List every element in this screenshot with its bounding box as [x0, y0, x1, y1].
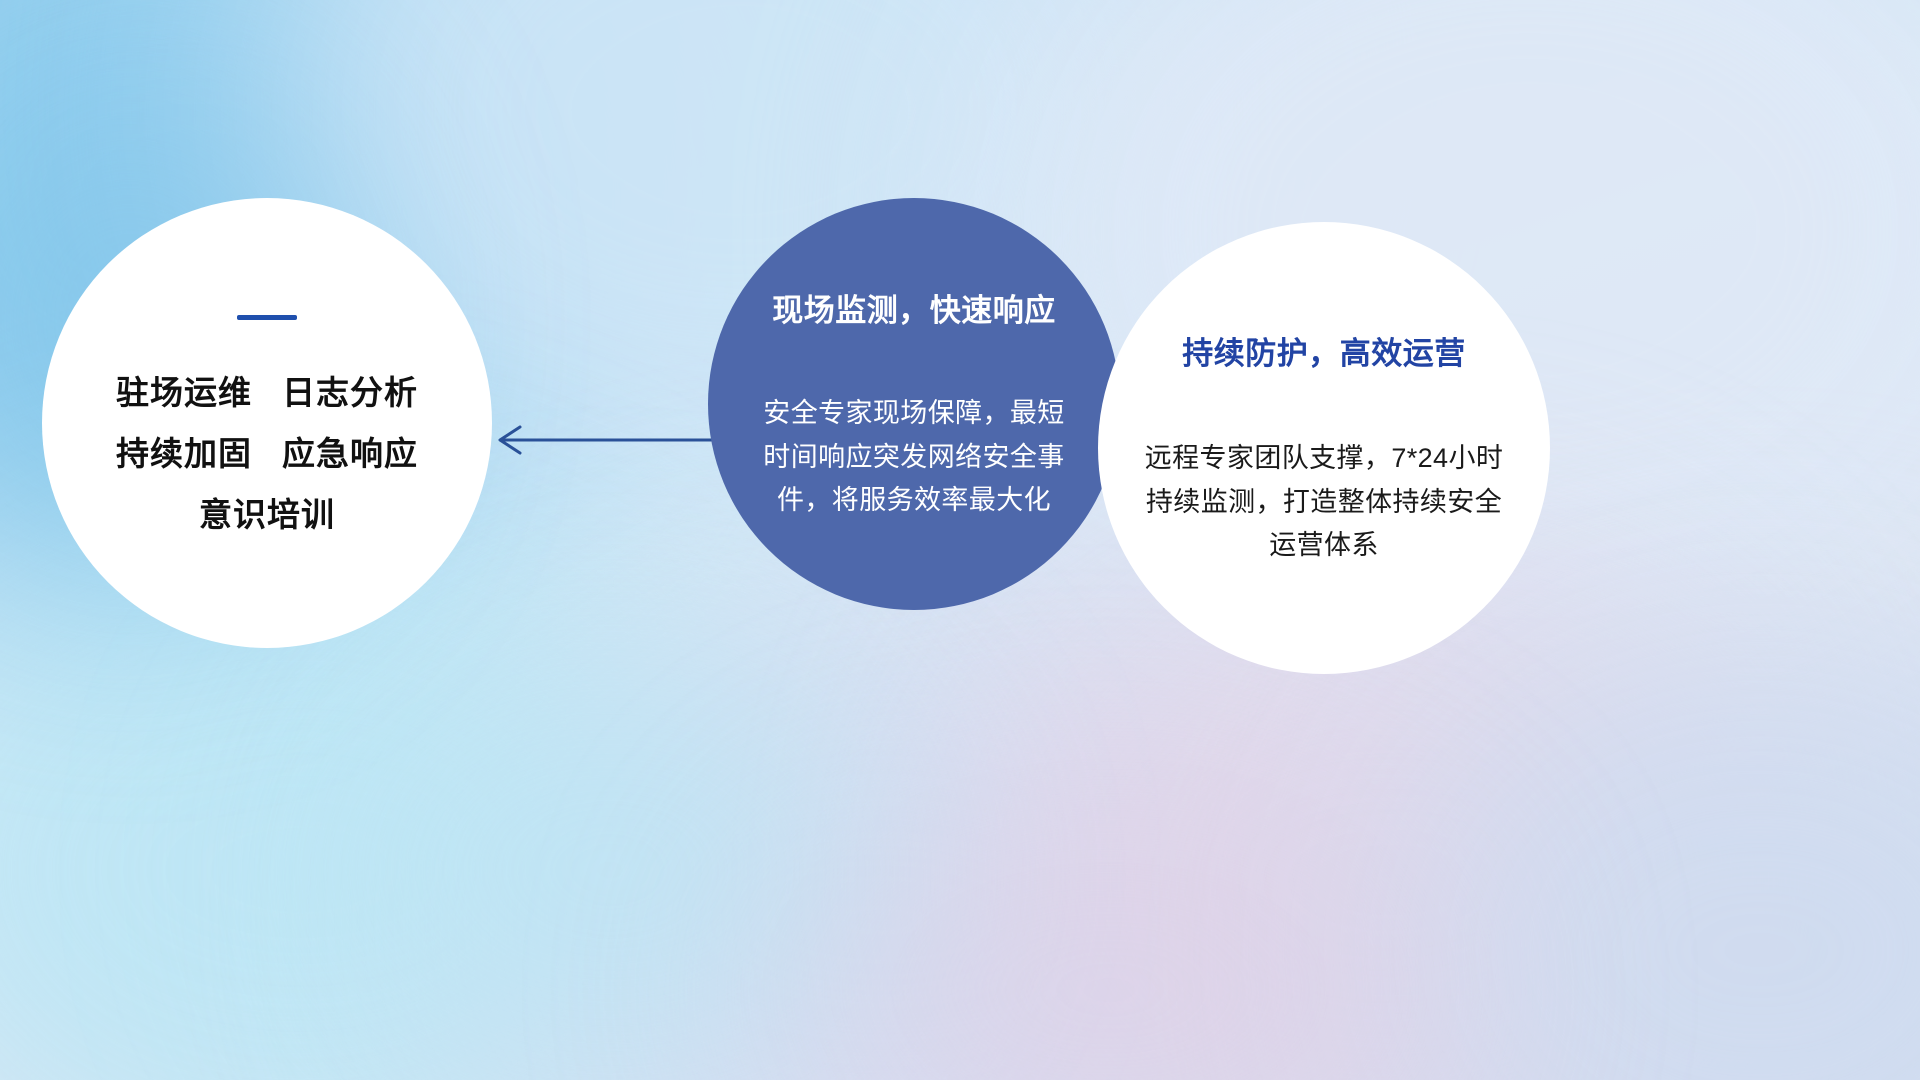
- capability-row: 持续加固应急响应: [116, 437, 418, 470]
- continuous-protection-circle: 持续防护，高效运营 远程专家团队支撑，7*24小时持续监测，打造整体持续安全运营…: [1098, 222, 1550, 674]
- capability-label: 驻场运维: [116, 374, 252, 411]
- capability-label: 持续加固: [116, 435, 252, 472]
- onsite-monitoring-title: 现场监测，快速响应: [772, 285, 1056, 330]
- capability-label: 日志分析: [282, 374, 418, 411]
- capability-row: 意识培训: [199, 498, 335, 531]
- capabilities-circle: 驻场运维日志分析 持续加固应急响应 意识培训: [42, 198, 492, 648]
- onsite-monitoring-body: 安全专家现场保障，最短时间响应突发网络安全事件，将服务效率最大化: [759, 392, 1069, 523]
- continuous-protection-title: 持续防护，高效运营: [1182, 328, 1466, 373]
- capability-row: 驻场运维日志分析: [116, 376, 418, 409]
- capability-label: 意识培训: [199, 496, 335, 533]
- accent-dash-icon: [237, 315, 297, 320]
- onsite-monitoring-circle: 现场监测，快速响应 安全专家现场保障，最短时间响应突发网络安全事件，将服务效率最…: [708, 198, 1120, 610]
- capability-label: 应急响应: [282, 435, 418, 472]
- continuous-protection-body: 远程专家团队支撑，7*24小时持续监测，打造整体持续安全运营体系: [1141, 437, 1507, 568]
